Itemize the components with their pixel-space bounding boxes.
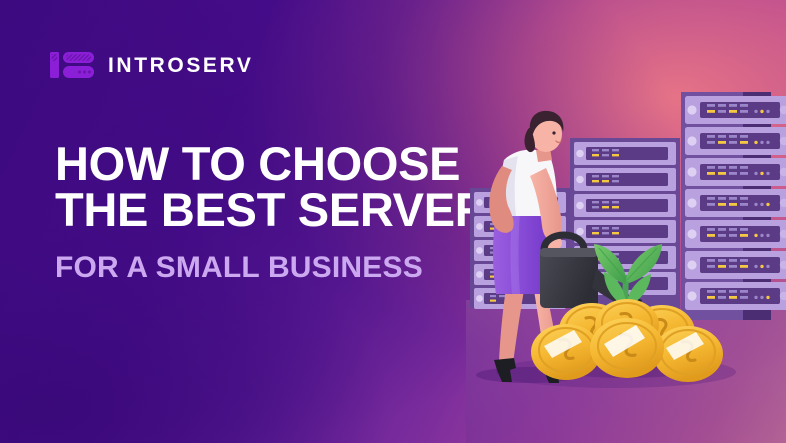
introserv-server-logo-icon bbox=[50, 50, 94, 80]
brand-wordmark: INTROSERV bbox=[108, 55, 254, 76]
headline-line-1: HOW TO CHOOSE bbox=[55, 141, 525, 187]
brand-logo[interactable]: INTROSERV bbox=[50, 48, 254, 82]
page-subtitle: FOR A SMALL BUSINESS bbox=[55, 253, 423, 283]
promo-banner: INTROSERV HOW TO CHOOSE THE BEST SERVER … bbox=[0, 0, 786, 443]
hero-illustration bbox=[466, 0, 786, 443]
page-title: HOW TO CHOOSE THE BEST SERVER bbox=[55, 141, 525, 233]
server-rack-tall bbox=[681, 92, 786, 320]
headline-line-2: THE BEST SERVER bbox=[55, 187, 525, 233]
